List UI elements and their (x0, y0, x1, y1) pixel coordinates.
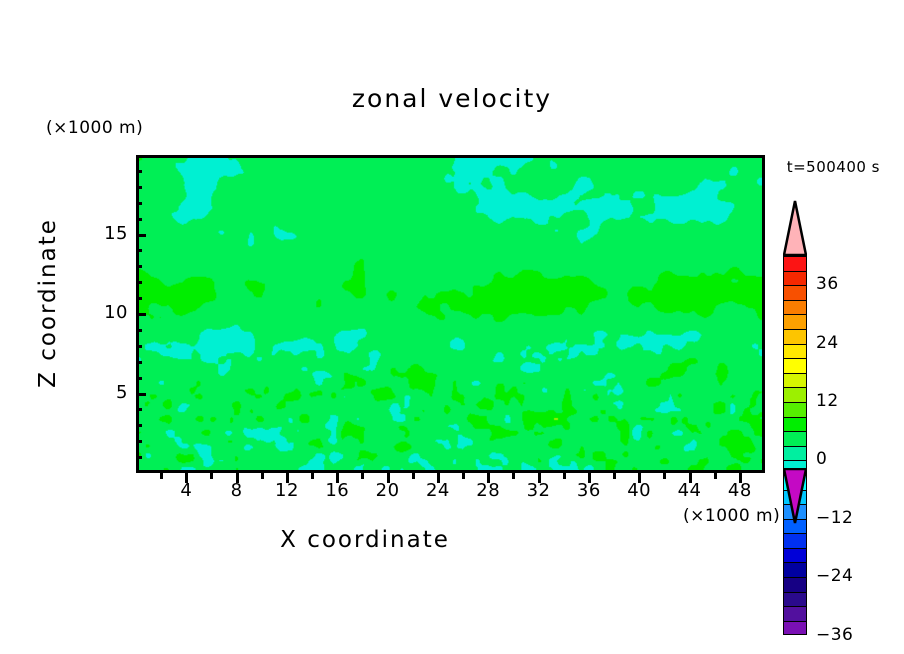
y-minor-tick (136, 297, 142, 300)
colorbar-band (783, 548, 807, 563)
y-minor-tick (136, 249, 142, 252)
x-axis-title: X coordinate (0, 527, 730, 553)
y-minor-tick (136, 361, 142, 364)
colorbar-band (783, 344, 807, 359)
x-minor-tick (563, 473, 566, 479)
y-minor-tick (136, 218, 142, 221)
colorbar-band (783, 329, 807, 344)
x-minor-tick (462, 473, 465, 479)
page-title: zonal velocity (0, 84, 904, 113)
y-minor-tick (136, 345, 142, 348)
y-tick-label: 5 (86, 382, 128, 403)
y-minor-tick (136, 408, 142, 411)
x-minor-tick (361, 473, 364, 479)
colorbar-under-arrow (783, 468, 807, 524)
colorbar-band (783, 446, 807, 461)
colorbar-tick-label: 24 (816, 333, 839, 353)
y-minor-tick (136, 281, 142, 284)
x-tick-label: 48 (710, 480, 770, 501)
y-minor-tick (136, 424, 142, 427)
x-minor-tick (160, 473, 163, 479)
y-tick (136, 234, 146, 237)
x-minor-tick (714, 473, 717, 479)
y-tick-label: 10 (86, 302, 128, 323)
colorbar-band (783, 431, 807, 446)
colorbar-band (783, 387, 807, 402)
colorbar-tick-label: 0 (816, 449, 827, 469)
timestamp-label: t=500400 s (787, 158, 880, 176)
colorbar-tick-label: −36 (816, 625, 853, 645)
colorbar-band (783, 285, 807, 300)
x-minor-tick (512, 473, 515, 479)
colorbar-band (783, 592, 807, 607)
y-minor-tick (136, 170, 142, 173)
y-minor-tick (136, 202, 142, 205)
colorbar-band (783, 417, 807, 432)
y-tick (136, 313, 146, 316)
colorbar-over-arrow (783, 200, 807, 256)
y-tick (136, 393, 146, 396)
colorbar-band (783, 606, 807, 621)
contour-field (139, 158, 762, 470)
colorbar-tick-label: −12 (816, 508, 853, 528)
colorbar-band (783, 314, 807, 329)
x-minor-tick (210, 473, 213, 479)
colorbar-tick-label: 12 (816, 391, 839, 411)
colorbar-band (783, 402, 807, 417)
x-minor-tick (663, 473, 666, 479)
y-minor-tick (136, 440, 142, 443)
x-minor-tick (261, 473, 264, 479)
colorbar-band (783, 533, 807, 548)
colorbar-band (783, 621, 807, 636)
colorbar (783, 256, 807, 635)
y-minor-tick (136, 186, 142, 189)
y-axis-unit-label: (×1000 m) (46, 118, 143, 138)
y-minor-tick (136, 377, 142, 380)
colorbar-band (783, 271, 807, 286)
y-tick-label: 15 (86, 223, 128, 244)
x-minor-tick (311, 473, 314, 479)
x-minor-tick (613, 473, 616, 479)
colorbar-band (783, 256, 807, 271)
colorbar-tick-label: 36 (816, 274, 839, 294)
x-axis-unit-label: (×1000 m) (683, 506, 780, 526)
colorbar-band (783, 300, 807, 315)
x-minor-tick (412, 473, 415, 479)
y-minor-tick (136, 265, 142, 268)
y-minor-tick (136, 329, 142, 332)
y-minor-tick (136, 456, 142, 459)
colorbar-tick-label: −24 (816, 566, 853, 586)
colorbar-band (783, 577, 807, 592)
colorbar-band (783, 562, 807, 577)
colorbar-band (783, 373, 807, 388)
contour-plot-frame (136, 155, 765, 473)
y-axis-title: Z coordinate (35, 193, 61, 413)
colorbar-band (783, 358, 807, 373)
